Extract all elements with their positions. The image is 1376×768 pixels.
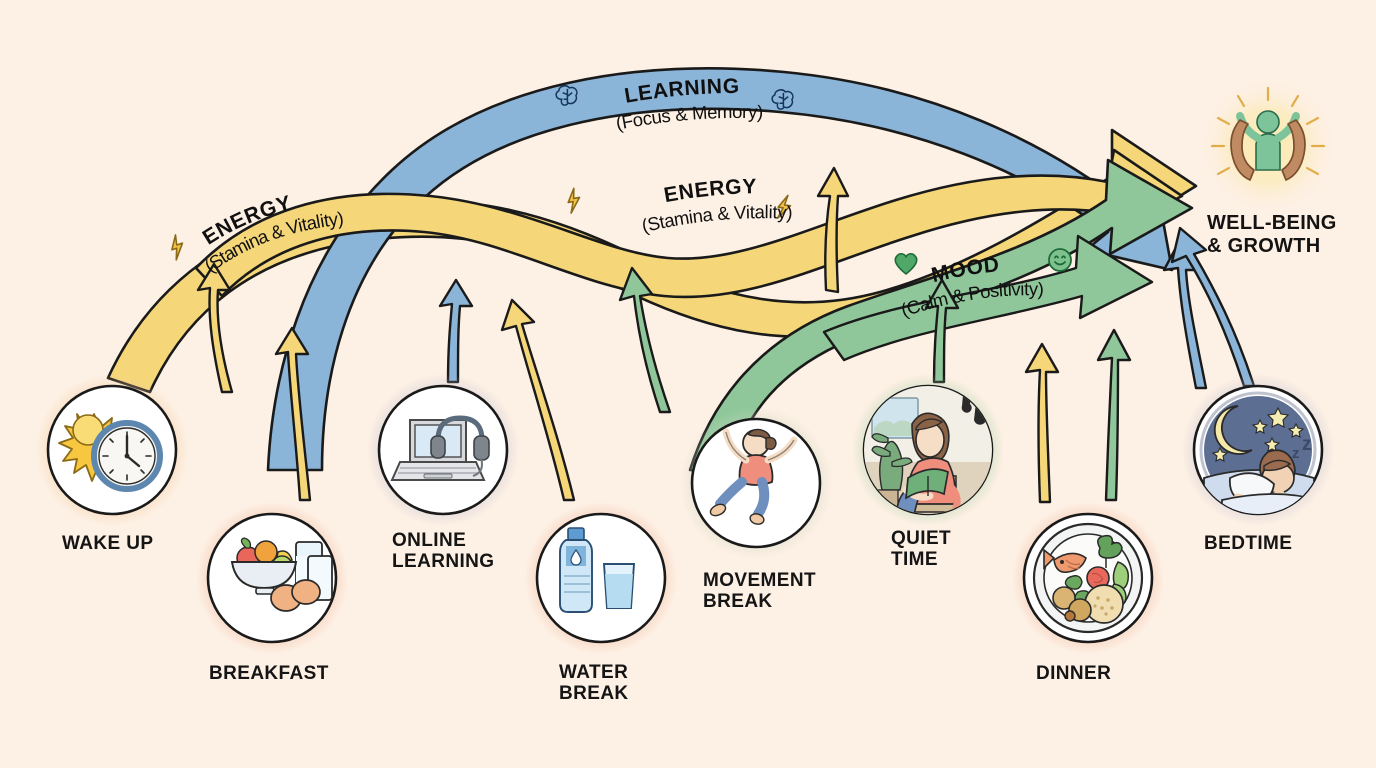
svg-text:z: z [1302, 434, 1312, 455]
goal-well-being-growth[interactable] [1200, 78, 1336, 214]
node-quiet-time[interactable] [852, 374, 1004, 526]
lightning-bolt-icon [566, 188, 582, 214]
svg-text:(Stamina & Vitality): (Stamina & Vitality) [640, 201, 794, 236]
node-water-break[interactable] [525, 502, 677, 654]
node-label-movement-break: MOVEMENT BREAK [703, 570, 816, 613]
node-breakfast[interactable] [196, 502, 348, 654]
dinner-plate-icon [1034, 524, 1142, 632]
lightning-bolt-icon [168, 234, 187, 261]
node-online-learning[interactable] [367, 374, 519, 526]
infographic-canvas: ENERGY (Stamina & Vitality) LEARNING (Fo… [0, 0, 1376, 768]
node-label-water-break: WATER BREAK [559, 662, 629, 705]
ribbon-label-energy-mid: ENERGY (Stamina & Vitality) [640, 175, 794, 236]
node-dinner[interactable] [1012, 502, 1164, 654]
node-label-bedtime: BEDTIME [1204, 533, 1292, 554]
node-label-dinner: DINNER [1036, 663, 1111, 684]
goal-label: WELL-BEING & GROWTH [1207, 212, 1337, 258]
node-wake-up[interactable] [36, 374, 188, 526]
node-movement-break[interactable] [680, 407, 832, 559]
smiley-icon [1049, 249, 1071, 271]
node-label-online-learning: ONLINE LEARNING [392, 530, 494, 573]
svg-text:z: z [1292, 445, 1300, 462]
node-label-wake-up: WAKE UP [62, 533, 153, 554]
ribbon-energy-mid-subtitle: (Stamina & Vitality) [640, 201, 794, 236]
node-label-quiet-time: QUIET TIME [891, 528, 951, 571]
flow-diagram: ENERGY (Stamina & Vitality) LEARNING (Fo… [0, 0, 1376, 768]
node-bedtime[interactable]: z z [1182, 374, 1334, 526]
heart-icon [895, 254, 916, 274]
node-label-breakfast: BREAKFAST [209, 663, 329, 684]
